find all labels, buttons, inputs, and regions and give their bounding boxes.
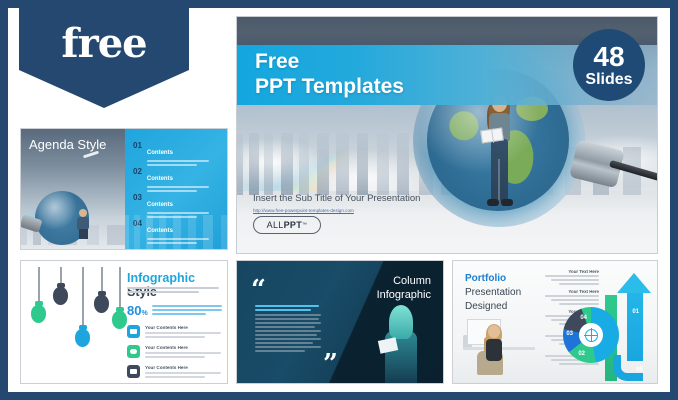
agenda-item-line [147,186,209,188]
allppt-logo-suffix: PPT [284,220,302,230]
agenda-item-04[interactable]: 04 Contents [133,219,209,244]
infographic-row-text: Your Contents Here [145,345,221,360]
portfolio-slide[interactable]: Portfolio Presentation Designed Your Tex… [452,260,658,384]
agenda-item-body: Contents [147,219,209,244]
hero-title-line1: Free [255,50,404,75]
infographic-percent: 80% [127,303,148,318]
column-title-line1: Column [377,275,431,289]
column-body-text [255,305,323,354]
globe-icon [585,329,598,342]
bulb-icon-navy-2 [94,295,109,313]
arrow-stem [627,287,643,361]
agenda-item-line [147,212,209,214]
free-banner: free [19,8,189,108]
portfolio-title-accent: Portfolio [465,273,506,284]
hero-title-line2: PPT Templates [255,75,404,100]
agenda-item-line [147,242,197,244]
donut-label-01: 01 [632,309,639,315]
hooded-figure-photo [381,305,421,383]
agenda-item-body: Contents [147,141,209,166]
agenda-item-line [147,160,209,162]
girl-reading-figure [483,95,517,213]
hero-slide[interactable]: Free PPT Templates 48 Slides Insert the … [236,16,658,254]
donut-label-03: 03 [566,331,573,337]
quote-open-icon: “ [251,283,266,299]
agenda-item-number: 04 [133,219,142,228]
agenda-item-number: 03 [133,193,142,202]
agenda-photo-panel: Agenda Style [21,129,125,249]
briefcase-icon-navy [127,365,140,378]
bulb-icon-green-2 [112,311,127,329]
workspace-photo [463,319,537,377]
hero-subtitle: Insert the Sub Title of Your Presentatio… [253,193,420,204]
infographic-row-text: Your Contents Here [145,325,221,340]
slides-count-label: Slides [585,72,632,88]
infographic-row-3[interactable]: Your Contents Here [127,365,221,380]
agenda-item-02[interactable]: 02 Contents [133,167,209,192]
infographic-stat: 80% [127,303,222,318]
agenda-item-line [147,216,197,218]
agenda-item-number: 02 [133,167,142,176]
agenda-item-03[interactable]: 03 Contents [133,193,209,218]
free-banner-label: free [61,20,146,67]
agenda-style-slide[interactable]: Agenda Style 01 Contents 02 Contents [20,128,228,250]
column-infographic-slide[interactable]: “ ” Column Infographic [236,260,444,384]
allppt-logo-tm: ™ [302,222,307,228]
hanging-bulbs-graphic [29,267,125,379]
portfolio-text-block: Your Text Here [545,289,599,305]
allppt-logo-prefix: ALL [267,220,284,230]
hero-url-link[interactable]: http://www.free-powerpoint-templates-des… [253,208,354,213]
infographic-style-slide[interactable]: Infographic Style 80% Your Contents Here… [20,260,228,384]
infographic-description [127,287,219,295]
infographic-row-text: Your Contents Here [145,365,221,380]
agenda-figure-head [79,209,87,217]
agenda-item-label: Contents [147,228,173,234]
infographic-row-heading: Your Contents Here [145,345,221,350]
agenda-item-label: Contents [147,176,173,182]
agenda-item-body: Contents [147,167,209,192]
quote-close-icon: ” [323,357,338,373]
portfolio-text-block: Your Text Here [545,269,599,285]
infographic-percent-symbol: % [141,310,147,317]
agenda-figure-legs [79,229,88,239]
agenda-item-01[interactable]: 01 Contents [133,141,209,166]
donut-label-02: 02 [578,351,585,357]
agenda-item-label: Contents [147,150,173,156]
agenda-item-line [147,164,197,166]
person-at-desk [483,325,505,363]
agenda-title: Agenda Style [29,137,106,152]
infographic-row-heading: Your Contents Here [145,325,221,330]
agenda-seated-figure [77,209,89,239]
agenda-item-line [147,190,197,192]
hero-title: Free PPT Templates [255,50,404,100]
allppt-logo: ALLPPT™ [253,216,321,234]
donut-label-05: 05 [636,367,643,373]
column-title-line2: Infographic [377,289,431,303]
portfolio-block-heading: Your Text Here [545,289,599,294]
infographic-row-heading: Your Contents Here [145,365,221,370]
slides-count-number: 48 [593,43,624,71]
girl-leg-gap [498,159,500,201]
figure-hood [389,305,413,339]
agenda-item-body: Contents [147,193,209,218]
portfolio-title-line2: Presentation [465,287,521,298]
girl-shoe-right [501,199,513,206]
agenda-item-number: 01 [133,141,142,150]
bulb-icon-navy [53,287,68,305]
slides-count-badge: 48 Slides [573,29,645,101]
preview-frame: free Free PPT Templates [8,8,670,392]
infographic-title-accent: Infographic [127,271,195,285]
infographic-stat-lines [152,305,222,317]
portfolio-block-heading: Your Text Here [545,269,599,274]
bulb-icon-green [31,305,46,323]
girl-shoe-left [487,199,499,206]
bulb-icon-blue [75,329,90,347]
person-head [488,325,500,338]
agenda-item-label: Contents [147,202,173,208]
portfolio-title-line3: Designed [465,301,507,312]
donut-label-04: 04 [580,315,587,321]
agenda-contents-panel: 01 Contents 02 Contents 03 Contents [125,129,228,249]
media-icon-blue [127,325,140,338]
agenda-item-line [147,238,209,240]
arrow-head [617,273,651,293]
infographic-row-2[interactable]: Your Contents Here [127,345,221,360]
cloud-icon-green [127,345,140,358]
donut-center [579,323,603,347]
column-title: Column Infographic [377,275,431,303]
infographic-row-1[interactable]: Your Contents Here [127,325,221,340]
person-body [486,339,502,361]
